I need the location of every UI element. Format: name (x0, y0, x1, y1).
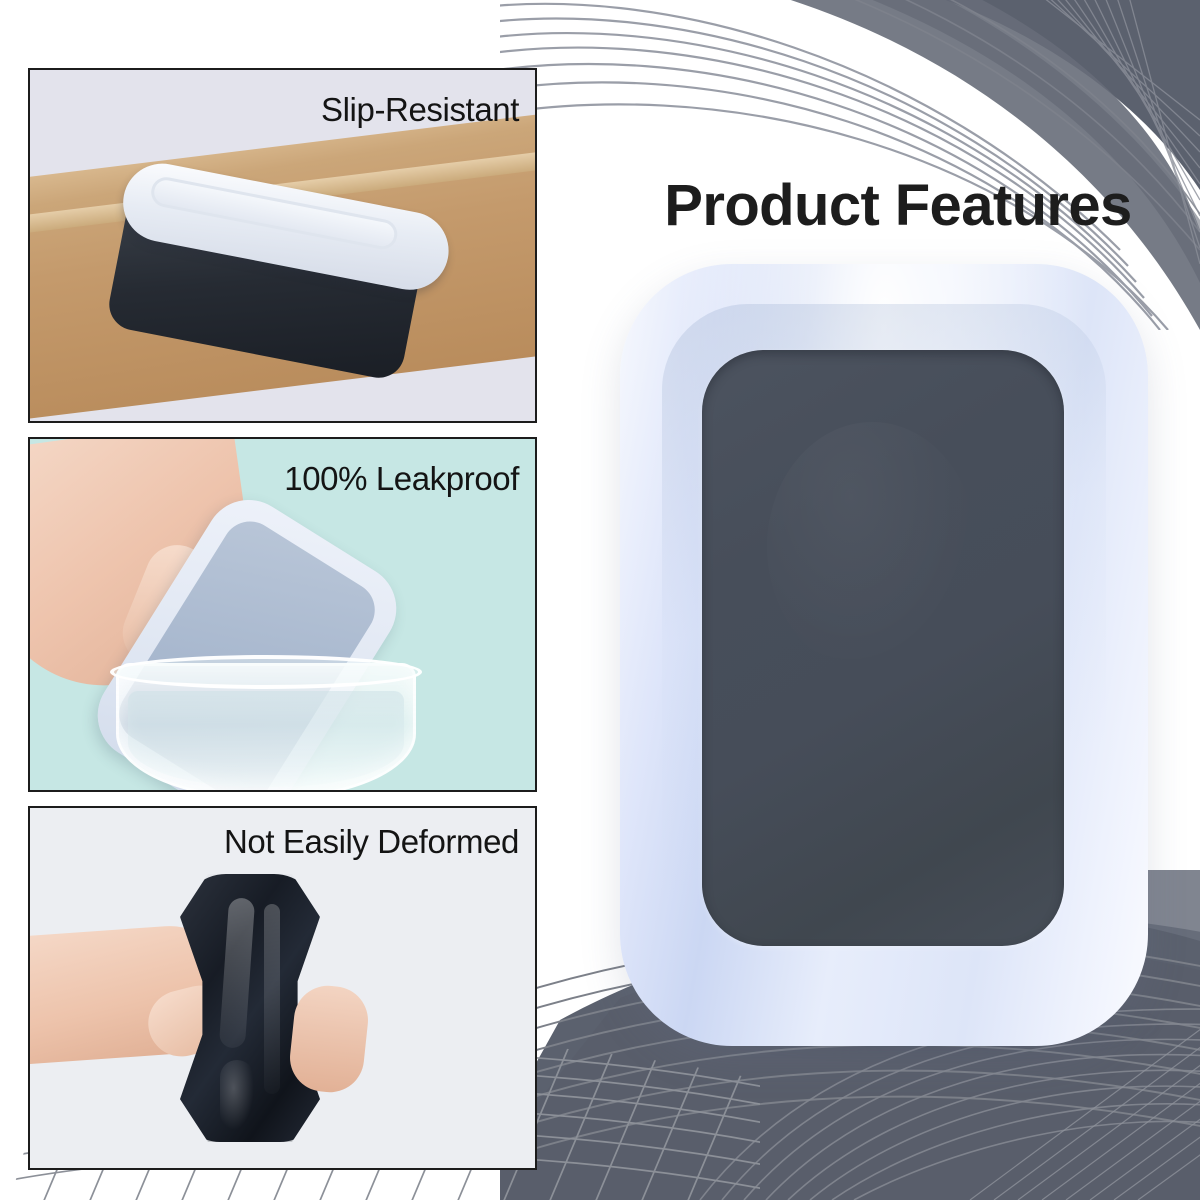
infographic-root: Slip-Resistant 100% Leakproof Not Easily… (0, 0, 1200, 1200)
gloss-highlight (264, 904, 280, 1094)
feature-panel-leakproof: 100% Leakproof (28, 437, 537, 792)
bowl-water (128, 691, 404, 787)
interior-sheen (767, 422, 977, 672)
gloss-highlight (220, 1060, 254, 1130)
feature-panel-not-easily-deformed: Not Easily Deformed (28, 806, 537, 1170)
glass-bowl-rim (110, 655, 422, 689)
container-interior (702, 350, 1064, 946)
panel-caption-not-easily-deformed: Not Easily Deformed (224, 824, 519, 860)
silicone-rim (620, 264, 1148, 1046)
product-hero-image (620, 264, 1148, 1046)
feature-panel-slip-resistant: Slip-Resistant (28, 68, 537, 423)
page-title: Product Features (596, 172, 1200, 239)
panel-caption-leakproof: 100% Leakproof (284, 461, 519, 497)
panel-caption-slip-resistant: Slip-Resistant (321, 92, 519, 128)
fingers (287, 982, 372, 1095)
